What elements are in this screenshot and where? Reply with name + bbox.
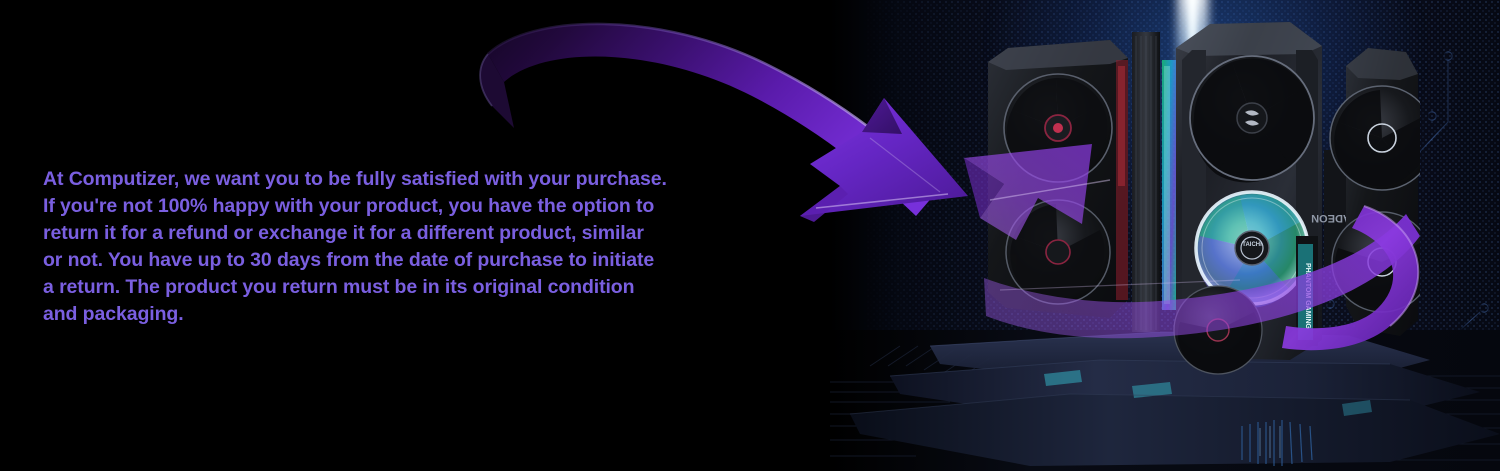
stacked-graphics-cards: TAICHI RADEON — [960, 0, 1420, 400]
return-policy-banner: TAICHI RADEON — [0, 0, 1500, 471]
graphics-card-front-fan — [1174, 286, 1262, 374]
svg-text:PHANTOM GAMING: PHANTOM GAMING — [1304, 263, 1311, 330]
return-policy-copy: At Computizer, we want you to be fully s… — [43, 166, 753, 328]
return-policy-text: At Computizer, we want you to be fully s… — [43, 166, 753, 328]
graphics-card-front: PHANTOM GAMING — [1296, 236, 1318, 346]
svg-text:TAICHI: TAICHI — [1242, 242, 1262, 248]
graphics-card-left — [988, 40, 1128, 318]
